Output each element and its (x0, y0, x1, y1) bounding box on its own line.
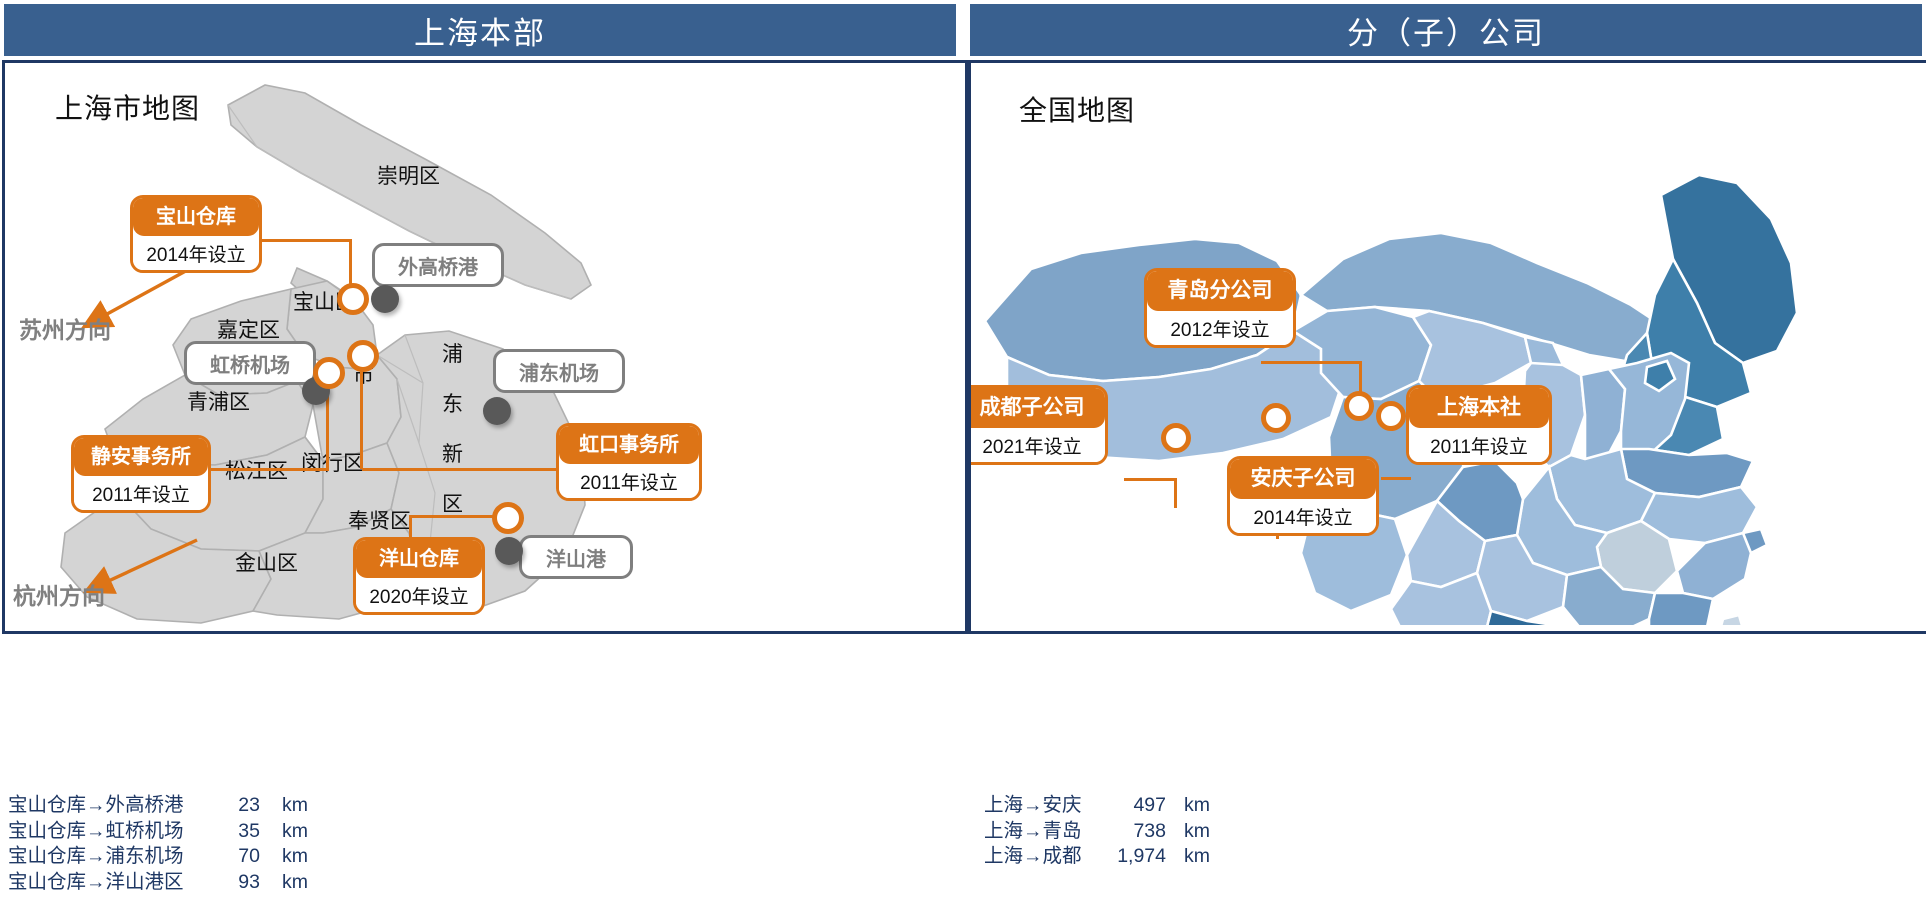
distance-row: 宝山仓库→外高桥港 23 km (8, 793, 308, 819)
district-label-jinshan: 金山区 (235, 547, 298, 577)
marker-ring-baoshan-warehouse[interactable] (337, 283, 369, 315)
callout-shanghai-hq[interactable]: 上海本社 2011年设立 (1406, 385, 1552, 465)
distance-unit: km (282, 793, 308, 819)
marker-dot-yangshan-port (495, 537, 523, 565)
distance-row: 上海→安庆 497 km (984, 793, 1210, 819)
callout-hongkou-office-title: 虹口事务所 (559, 426, 699, 464)
header-shanghai-hq-label: 上海本部 (414, 8, 546, 53)
callout-baoshan-warehouse-sub: 2014年设立 (133, 236, 259, 273)
marker-ring-shanghai-hq[interactable] (1376, 401, 1406, 431)
callout-jingan-office-title: 静安事务所 (74, 438, 208, 476)
connector-hongkou-h (362, 468, 560, 471)
facility-box-yangshan-port-label: 洋山港 (546, 543, 606, 572)
direction-label-hangzhou: 杭州方向 (13, 577, 105, 611)
marker-ring-yangshan-warehouse[interactable] (492, 502, 524, 534)
callout-baoshan-warehouse-title: 宝山仓库 (133, 198, 259, 236)
distance-route: 宝山仓库→洋山港区 (8, 870, 208, 896)
district-label-minhang: 闵行区 (301, 447, 364, 477)
connector-qingdao-h (1261, 361, 1361, 364)
district-label-jiading: 嘉定区 (217, 314, 280, 344)
callout-hongkou-office[interactable]: 虹口事务所 2011年设立 (556, 423, 702, 501)
marker-ring-chengdu-subsidiary[interactable] (1161, 423, 1191, 453)
callout-anqing-subsidiary-title: 安庆子公司 (1230, 459, 1376, 499)
facility-box-pudong-airport[interactable]: 浦东机场 (493, 349, 625, 393)
callout-anqing-subsidiary[interactable]: 安庆子公司 2014年设立 (1227, 456, 1379, 536)
district-label-chongming: 崇明区 (377, 160, 440, 190)
china-map-graphic (971, 63, 1921, 625)
callout-anqing-subsidiary-sub: 2014年设立 (1230, 499, 1376, 536)
china-map-title: 全国地图 (1019, 89, 1135, 129)
marker-ring-jingan-office[interactable] (313, 357, 345, 389)
callout-jingan-office-sub: 2011年设立 (74, 476, 208, 513)
district-label-fengxian: 奉贤区 (348, 505, 411, 535)
header-branch-companies: 分（子）公司 (970, 4, 1922, 56)
facility-box-waigaoqiao-port-label: 外高桥港 (398, 251, 478, 280)
distance-unit: km (1184, 819, 1210, 845)
panel-china-map: 全国地图 青岛分公司 2012年设立 成都子公司 2021年设立 上海本社 20… (968, 60, 1926, 634)
facility-box-waigaoqiao-port[interactable]: 外高桥港 (372, 243, 504, 287)
distance-table-shanghai: 宝山仓库→外高桥港 23 km 宝山仓库→虹桥机场 35 km 宝山仓库→浦东机… (8, 793, 308, 895)
connector-baoshan-h (260, 239, 352, 242)
marker-ring-hongkou-office[interactable] (347, 340, 379, 372)
panel-shanghai-map: 上海市地图 崇明区 宝山区 嘉定区 青浦区 上 市 松江区 闵行区 奉贤区 金山… (2, 60, 968, 634)
distance-unit: km (282, 844, 308, 870)
distance-route: 上海→成都 (984, 844, 1088, 870)
distance-value: 23 (218, 793, 260, 819)
connector-jingan-h (201, 468, 329, 471)
header-branch-companies-label: 分（子）公司 (1347, 8, 1545, 53)
connector-chengdu-v (1174, 478, 1177, 508)
facility-box-hongqiao-airport-label: 虹桥机场 (210, 349, 290, 378)
callout-yangshan-warehouse-title: 洋山仓库 (356, 540, 482, 578)
callout-qingdao-branch-title: 青岛分公司 (1147, 271, 1293, 311)
callout-chengdu-subsidiary-title: 成都子公司 (968, 388, 1105, 428)
distance-value: 1,974 (1104, 844, 1166, 870)
district-label-pudong-3: 新 (442, 438, 463, 468)
callout-shanghai-hq-sub: 2011年设立 (1409, 428, 1549, 465)
distance-value: 738 (1104, 819, 1166, 845)
distance-row: 宝山仓库→虹桥机场 35 km (8, 819, 308, 845)
district-label-pudong-4: 区 (442, 488, 463, 518)
facility-box-pudong-airport-label: 浦东机场 (519, 357, 599, 386)
distance-table-china: 上海→安庆 497 km 上海→青岛 738 km 上海→成都 1,974 km (984, 793, 1210, 870)
marker-ring-anqing-subsidiary[interactable] (1261, 403, 1291, 433)
marker-dot-waigaoqiao-port (371, 285, 399, 313)
facility-box-hongqiao-airport[interactable]: 虹桥机场 (184, 341, 316, 385)
callout-yangshan-warehouse-sub: 2020年设立 (356, 578, 482, 615)
distance-value: 70 (218, 844, 260, 870)
slide-root: 上海本部 分（子）公司 (0, 0, 1926, 905)
callout-yangshan-warehouse[interactable]: 洋山仓库 2020年设立 (353, 537, 485, 615)
distance-route: 上海→安庆 (984, 793, 1088, 819)
marker-dot-pudong-airport (483, 397, 511, 425)
district-label-qingpu: 青浦区 (187, 386, 250, 416)
direction-label-suzhou: 苏州方向 (19, 311, 111, 345)
distance-unit: km (1184, 844, 1210, 870)
callout-chengdu-subsidiary-sub: 2021年设立 (968, 428, 1105, 465)
distance-route: 宝山仓库→虹桥机场 (8, 819, 208, 845)
connector-shanghai-h (1381, 477, 1411, 480)
callout-hongkou-office-sub: 2011年设立 (559, 464, 699, 501)
distance-unit: km (1184, 793, 1210, 819)
facility-box-yangshan-port[interactable]: 洋山港 (519, 535, 633, 579)
callout-chengdu-subsidiary[interactable]: 成都子公司 2021年设立 (968, 385, 1108, 465)
callout-baoshan-warehouse[interactable]: 宝山仓库 2014年设立 (130, 195, 262, 273)
distance-row: 宝山仓库→浦东机场 70 km (8, 844, 308, 870)
distance-value: 497 (1104, 793, 1166, 819)
callout-qingdao-branch-sub: 2012年设立 (1147, 311, 1293, 348)
distance-row: 上海→青岛 738 km (984, 819, 1210, 845)
district-label-pudong-1: 浦 (442, 338, 463, 368)
distance-value: 93 (218, 870, 260, 896)
connector-chengdu-h (1124, 478, 1176, 481)
header-shanghai-hq: 上海本部 (4, 4, 956, 56)
district-label-pudong-2: 东 (442, 388, 463, 418)
distance-unit: km (282, 870, 308, 896)
distance-unit: km (282, 819, 308, 845)
distance-route: 宝山仓库→浦东机场 (8, 844, 208, 870)
marker-ring-qingdao-branch[interactable] (1344, 391, 1374, 421)
distance-value: 35 (218, 819, 260, 845)
distance-route: 宝山仓库→外高桥港 (8, 793, 208, 819)
callout-shanghai-hq-title: 上海本社 (1409, 388, 1549, 428)
distance-route: 上海→青岛 (984, 819, 1088, 845)
shanghai-map-title: 上海市地图 (55, 87, 200, 127)
callout-jingan-office[interactable]: 静安事务所 2011年设立 (71, 435, 211, 513)
distance-row: 宝山仓库→洋山港区 93 km (8, 870, 308, 896)
callout-qingdao-branch[interactable]: 青岛分公司 2012年设立 (1144, 268, 1296, 348)
distance-row: 上海→成都 1,974 km (984, 844, 1210, 870)
